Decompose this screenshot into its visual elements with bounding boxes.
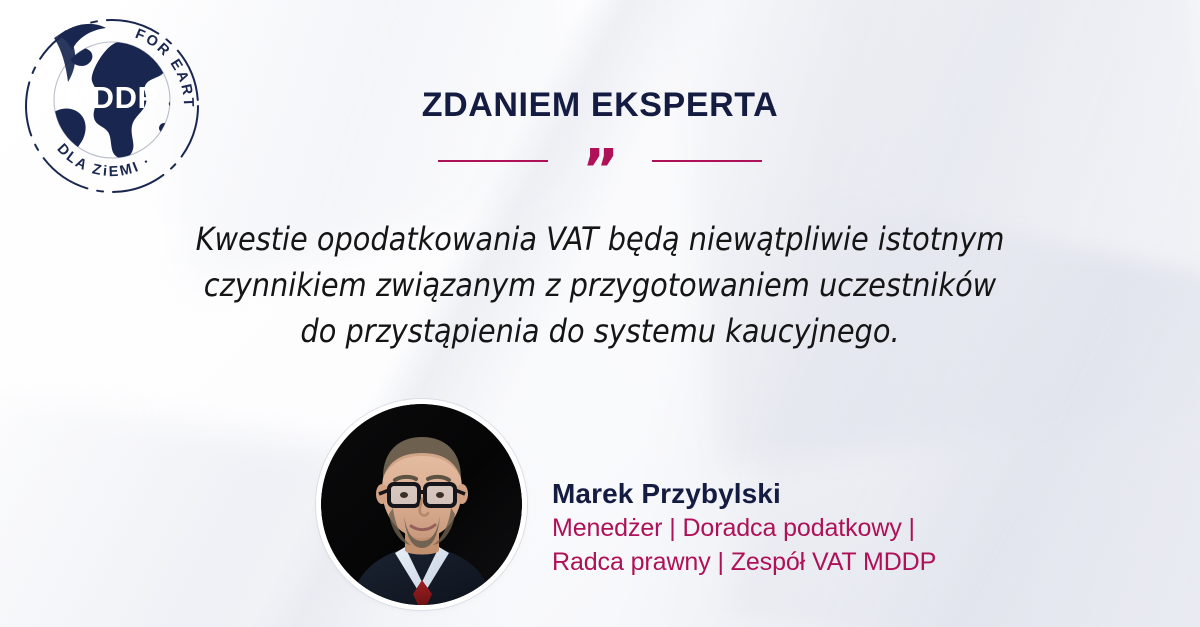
divider-rule-left: [438, 160, 548, 162]
quote-line: czynnikiem związanym z przygotowaniem uc…: [100, 262, 1100, 308]
author-name: Marek Przybylski: [552, 477, 1072, 511]
quote-divider: ”: [0, 160, 1200, 162]
expert-opinion-card: MDDP DLA ZiEMI · FOR EARTH ZDANIEM EKSPE…: [0, 0, 1200, 627]
divider-rule-right: [652, 160, 762, 162]
expert-quote: Kwestie opodatkowania VAT będą niewątpli…: [100, 216, 1100, 354]
author-photo: [321, 404, 522, 605]
author-role-line: Radca prawny | Zespół VAT MDDP: [552, 545, 1072, 579]
quote-line: do przystąpienia do systemu kaucyjnego.: [100, 308, 1100, 354]
author-avatar: [321, 404, 522, 605]
author-role-line: Menedżer | Doradca podatkowy |: [552, 511, 1072, 545]
page-title: ZDANIEM EKSPERTA: [0, 86, 1200, 125]
quote-line: Kwestie opodatkowania VAT będą niewątpli…: [100, 216, 1100, 262]
author-details: Marek Przybylski Menedżer | Doradca poda…: [552, 477, 1072, 579]
